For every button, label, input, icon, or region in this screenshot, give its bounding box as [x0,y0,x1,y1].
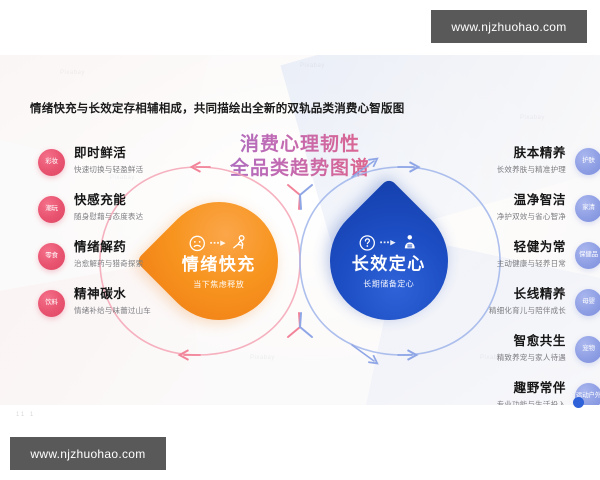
item-subtitle: 精细化育儿与陪伴成长 [430,305,566,316]
item-subtitle: 净护双效与省心智净 [430,211,566,222]
left-category-list: 彩妆 即时鲜活 快速切换与轻盈鲜活 潮玩 快感充能 随身慰藉与态度表达 零食 情… [42,147,232,335]
category-badge: 家清 [575,195,600,222]
lobe-title: 长效定心 [352,256,426,275]
page-number: 11 1 [16,412,35,418]
list-item[interactable]: 母婴 长线精养 精细化育儿与陪伴成长 [430,288,600,335]
category-badge: 饮料 [38,290,65,317]
right-category-list: 护肤 肤本精养 长效养肤与精准护理 家清 温净智洁 净护双效与省心智净 保健品 … [430,147,600,405]
compass-glyph-icon [574,398,583,407]
list-item[interactable]: 宠物 智愈共生 精致养宠与家人待遇 [430,335,600,382]
ghost-watermark: Pixabay [60,70,85,76]
ghost-watermark: Pixabay [520,115,545,121]
category-badge: 宠物 [575,336,600,363]
watermark-bottom: www.njzhuohao.com [10,437,166,470]
category-badge: 护肤 [575,148,600,175]
lobe-icon-row: ▪▪▪▶ [359,233,419,253]
category-badge: 潮玩 [38,196,65,223]
item-title: 肤本精养 [430,147,566,161]
item-title: 温净智洁 [430,194,566,208]
item-subtitle: 随身慰藉与态度表达 [74,211,232,222]
ghost-watermark: Pixabay [300,63,325,69]
jumping-person-icon [231,234,249,252]
watermark-top: www.njzhuohao.com [431,10,587,43]
item-title: 轻健为常 [430,241,566,255]
category-badge: 母婴 [575,289,600,316]
category-badge: 保健品 [575,242,600,269]
item-subtitle: 快速切换与轻盈鲜活 [74,164,232,175]
question-mark-icon [359,234,376,251]
list-item[interactable]: 零食 情绪解药 治愈解药与猎奇探索 [42,241,232,288]
ghost-watermark: Pixabay [250,355,275,361]
list-item[interactable]: 保健品 轻健为常 主动健康与轻养日常 [430,241,600,288]
list-item[interactable]: 彩妆 即时鲜活 快速切换与轻盈鲜活 [42,147,232,194]
list-item[interactable]: 饮料 精神碳水 情绪补给与味蕾过山车 [42,288,232,335]
slide-headline: 情绪快充与长效定存相辅相成，共同描绘出全新的双轨品类消费心智版图 [30,100,404,116]
item-subtitle: 主动健康与轻养日常 [430,258,566,269]
item-title: 情绪解药 [74,241,232,255]
item-subtitle: 情绪补给与味蕾过山车 [74,305,232,316]
flow-dots-icon: ▪▪▪▶ [380,239,397,247]
item-title: 即时鲜活 [74,147,232,161]
list-item[interactable]: 潮玩 快感充能 随身慰藉与态度表达 [42,194,232,241]
list-item[interactable]: 家清 温净智洁 净护双效与省心智净 [430,194,600,241]
shield-person-icon [401,234,419,252]
slide-canvas: Pixabay Pixabay Pixabay Pixabay Pixabay … [0,55,600,405]
category-badge: 彩妆 [38,149,65,176]
item-subtitle: 专业功能与生活投入 [430,399,566,405]
item-subtitle: 精致养宠与家人待遇 [430,352,566,363]
lobe-subtitle: 长期储备定心 [364,278,415,289]
list-item[interactable]: 护肤 肤本精养 长效养肤与精准护理 [430,147,600,194]
item-title: 精神碳水 [74,288,232,302]
brand-logo-icon [573,397,584,408]
item-title: 快感充能 [74,194,232,208]
item-title: 长线精养 [430,288,566,302]
item-title: 趣野常伴 [430,382,566,396]
category-badge: 零食 [38,243,65,270]
item-subtitle: 治愈解药与猎奇探索 [74,258,232,269]
item-subtitle: 长效养肤与精准护理 [430,164,566,175]
item-title: 智愈共生 [430,335,566,349]
